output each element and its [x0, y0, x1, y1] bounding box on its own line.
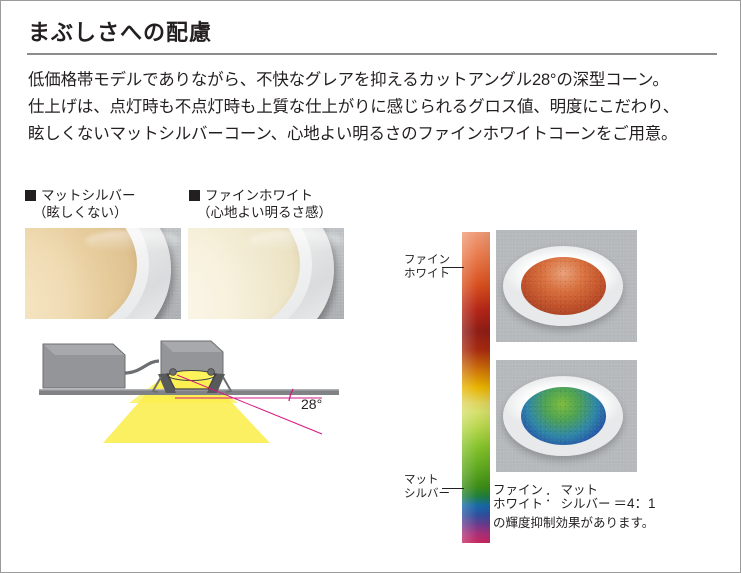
intro-line-2: 仕上げは、点灯時も不点灯時も上質な仕上がりに感じられるグロス値、明度にこだわり、 — [28, 94, 728, 121]
caption-matt-silver: マットシルバー （眩しくない） — [25, 187, 136, 221]
luminance-trim-ring — [503, 246, 623, 326]
title-divider — [27, 53, 717, 55]
lamp-socket-right — [208, 369, 215, 376]
ratio-term-fine-white: ファイン ホワイト — [493, 483, 543, 511]
caption-matt-silver-name: マットシルバー — [41, 187, 136, 204]
caption-fine-white: ファインホワイト （心地よい明るさ感） — [189, 187, 332, 221]
ratio-equals-value: ＝4：1 — [611, 497, 656, 511]
photo-matt-silver-downlight — [25, 228, 181, 319]
luminance-image-matt-silver — [496, 360, 637, 472]
luminance-cone-falsecolor — [521, 387, 606, 445]
colorbar-label-matt-silver: マット シルバー — [404, 473, 450, 501]
lamp-socket-left — [170, 369, 177, 376]
luminance-cone-noise — [521, 257, 606, 315]
ratio-term-fine-white-line2: ホワイト — [493, 497, 543, 511]
photo-sheen — [85, 230, 181, 252]
luminance-cone-noise — [521, 387, 606, 445]
intro-paragraph: 低価格帯モデルでありながら、不快なグレアを抑えるカットアングル28°の深型コーン… — [28, 67, 728, 148]
intro-line-1: 低価格帯モデルでありながら、不快なグレアを抑えるカットアングル28°の深型コーン… — [28, 67, 728, 94]
caption-matt-silver-note: （眩しくない） — [25, 204, 136, 221]
luminance-ratio-note: ファイン ホワイト ： マット シルバー ＝4：1 の輝度抑制効果があります。 — [493, 483, 733, 531]
ratio-colon: ： — [543, 490, 561, 504]
colorbar-label-fine-white-line2: ホワイト — [404, 267, 450, 281]
colorbar-label-matt-silver-line2: シルバー — [404, 487, 450, 501]
luminance-cone-falsecolor — [521, 257, 606, 315]
document-page: まぶしさへの配慮 低価格帯モデルでありながら、不快なグレアを抑えるカットアングル… — [0, 0, 741, 573]
luminance-image-fine-white — [496, 230, 637, 342]
luminance-trim-ring — [503, 376, 623, 456]
cross-section-diagram: 28° — [25, 331, 355, 451]
photo-sheen — [248, 230, 344, 252]
intro-line-3: 眩しくないマットシルバーコーン、心地よい明るさのファインホワイトコーンをご用意。 — [28, 121, 728, 148]
colorbar-label-matt-silver-line1: マット — [404, 473, 450, 487]
supply-cable — [125, 361, 159, 373]
caption-fine-white-name: ファインホワイト — [205, 187, 313, 204]
colorbar-leader-line-bottom — [442, 488, 464, 489]
luminance-ratio-tail: の輝度抑制効果があります。 — [493, 515, 733, 531]
colorbar-label-fine-white-line1: ファイン — [404, 253, 450, 267]
black-square-bullet-icon — [189, 190, 200, 201]
ratio-term-matt-silver-line2: シルバー — [561, 497, 611, 511]
caption-fine-white-note: （心地よい明るさ感） — [189, 204, 332, 221]
ratio-term-matt-silver: マット シルバー — [561, 483, 611, 511]
colorbar-leader-line-top — [442, 267, 464, 268]
angle-label: 28° — [301, 396, 322, 412]
luminance-ratio-expression: ファイン ホワイト ： マット シルバー ＝4：1 — [493, 483, 733, 511]
luminance-colorbar — [462, 232, 490, 543]
page-title: まぶしさへの配慮 — [28, 15, 212, 47]
ratio-term-fine-white-line1: ファイン — [493, 483, 543, 497]
driver-box-top — [43, 344, 125, 355]
black-square-bullet-icon — [25, 190, 36, 201]
photo-fine-white-downlight — [188, 228, 344, 319]
ratio-term-matt-silver-line1: マット — [561, 483, 611, 497]
